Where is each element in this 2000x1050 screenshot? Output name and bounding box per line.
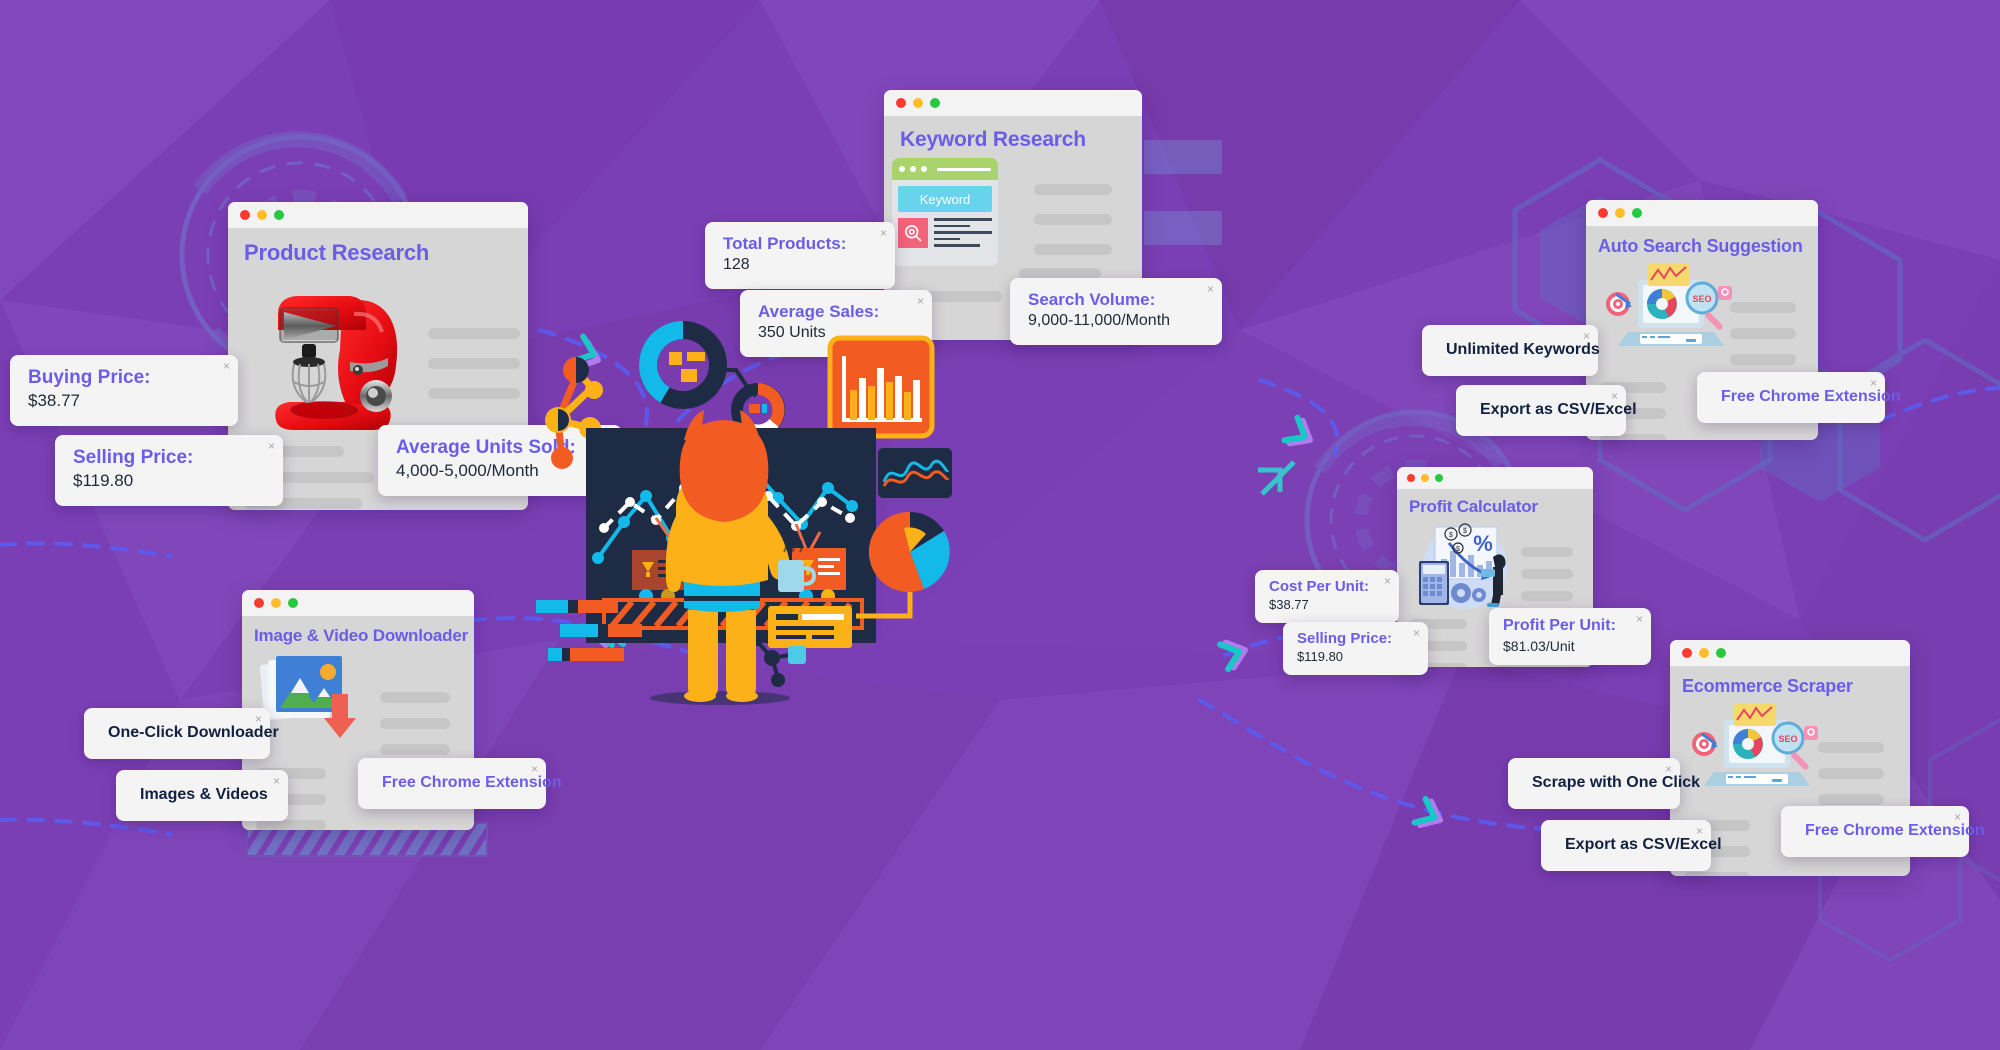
close-icon[interactable]: × bbox=[1954, 811, 1961, 823]
svg-text:$: $ bbox=[1456, 546, 1460, 553]
chip-one-click-downloader[interactable]: × One-Click Downloader bbox=[84, 708, 270, 759]
chip-title: Free Chrome Extension bbox=[1805, 822, 1935, 841]
chip-title: Selling Price: bbox=[1297, 630, 1402, 648]
chip-title: Scrape with One Click bbox=[1532, 774, 1646, 793]
chip-title: Total Products: bbox=[723, 234, 861, 254]
svg-text:$: $ bbox=[1449, 532, 1453, 539]
chip-title: Buying Price: bbox=[28, 367, 204, 389]
chip-cost-per-unit[interactable]: × Cost Per Unit: $38.77 bbox=[1255, 570, 1399, 623]
mini-text-lines bbox=[934, 218, 992, 248]
poster-canvas: Product Research bbox=[0, 0, 2000, 1050]
skeleton-line bbox=[380, 692, 450, 703]
chip-title: Export as CSV/Excel bbox=[1565, 836, 1677, 855]
close-dot-icon[interactable] bbox=[1407, 474, 1415, 482]
chip-title: Cost Per Unit: bbox=[1269, 578, 1373, 596]
close-icon[interactable]: × bbox=[273, 775, 280, 787]
skeleton-line bbox=[1034, 184, 1112, 195]
close-icon[interactable]: × bbox=[1611, 390, 1618, 402]
skeleton-line bbox=[1818, 794, 1884, 805]
close-icon[interactable]: × bbox=[1413, 627, 1420, 639]
bar-chart-card-icon bbox=[830, 338, 932, 436]
close-dot-icon[interactable] bbox=[896, 98, 906, 108]
donut-chart-cyan-icon bbox=[648, 330, 718, 400]
panel-title: Keyword Research bbox=[900, 128, 1126, 152]
chip-value: 128 bbox=[723, 255, 861, 276]
close-icon[interactable]: × bbox=[1696, 825, 1703, 837]
close-icon[interactable]: × bbox=[880, 227, 887, 239]
chip-selling-price-left[interactable]: × Selling Price: $119.80 bbox=[55, 435, 283, 506]
close-icon[interactable]: × bbox=[1665, 763, 1672, 775]
close-icon[interactable]: × bbox=[1583, 330, 1590, 342]
maximize-dot-icon[interactable] bbox=[1632, 208, 1642, 218]
mini-dot-icon bbox=[899, 166, 905, 172]
panel-title: Profit Calculator bbox=[1409, 497, 1581, 517]
maximize-dot-icon[interactable] bbox=[930, 98, 940, 108]
chip-export-csv-excel-bottom[interactable]: × Export as CSV/Excel bbox=[1541, 820, 1711, 871]
skeleton-line bbox=[1034, 244, 1112, 255]
close-icon[interactable]: × bbox=[531, 763, 538, 775]
close-dot-icon[interactable] bbox=[254, 598, 264, 608]
chip-value: 9,000-11,000/Month bbox=[1028, 311, 1188, 332]
chip-value: $81.03/Unit bbox=[1503, 637, 1625, 655]
close-dot-icon[interactable] bbox=[1598, 208, 1608, 218]
minimize-dot-icon[interactable] bbox=[257, 210, 267, 220]
keyword-search-card: Keyword bbox=[892, 158, 998, 266]
chip-search-volume[interactable]: × Search Volume: 9,000-11,000/Month bbox=[1010, 278, 1222, 345]
maximize-dot-icon[interactable] bbox=[1435, 474, 1443, 482]
skeleton-line bbox=[380, 718, 450, 729]
bg-accent-rect-2 bbox=[1144, 211, 1222, 245]
maximize-dot-icon[interactable] bbox=[288, 598, 298, 608]
chip-value: $38.77 bbox=[1269, 597, 1373, 614]
laptop-seo-analytics-icon: SEO bbox=[1692, 700, 1824, 804]
chip-free-chrome-extension-bottom[interactable]: × Free Chrome Extension bbox=[1781, 806, 1969, 857]
chip-title: Selling Price: bbox=[73, 447, 249, 469]
keyword-chip-label: Keyword bbox=[920, 192, 971, 207]
panel-title: Image & Video Downloader bbox=[254, 626, 462, 646]
chip-free-chrome-extension-left[interactable]: × Free Chrome Extension bbox=[358, 758, 546, 809]
skeleton-line bbox=[1034, 214, 1112, 225]
window-titlebar bbox=[242, 590, 474, 616]
chip-title: Unlimited Keywords bbox=[1446, 341, 1564, 360]
skeleton-line bbox=[428, 388, 520, 399]
chip-unlimited-keywords[interactable]: × Unlimited Keywords bbox=[1422, 325, 1598, 376]
minimize-dot-icon[interactable] bbox=[271, 598, 281, 608]
svg-text:SEO: SEO bbox=[1778, 734, 1797, 744]
skeleton-line bbox=[1521, 569, 1573, 579]
svg-text:SEO: SEO bbox=[1692, 294, 1711, 304]
chip-title: Free Chrome Extension bbox=[382, 774, 512, 793]
note-card-icon bbox=[768, 606, 852, 648]
close-icon[interactable]: × bbox=[268, 440, 275, 452]
skeleton-line bbox=[1684, 872, 1750, 876]
close-icon[interactable]: × bbox=[1207, 283, 1214, 295]
skeleton-line bbox=[1521, 547, 1573, 557]
skeleton-line bbox=[380, 744, 450, 755]
close-dot-icon[interactable] bbox=[240, 210, 250, 220]
mini-card-titlebar bbox=[892, 158, 998, 180]
skeleton-line bbox=[1521, 591, 1573, 601]
chip-value: $119.80 bbox=[73, 470, 249, 492]
pie-chart-icon bbox=[869, 512, 950, 592]
close-dot-icon[interactable] bbox=[1682, 648, 1692, 658]
close-icon[interactable]: × bbox=[1636, 613, 1643, 625]
svg-text:%: % bbox=[1473, 531, 1493, 556]
mini-dot-icon bbox=[910, 166, 916, 172]
panel-title: Auto Search Suggestion bbox=[1598, 236, 1806, 257]
skeleton-line bbox=[1818, 768, 1884, 779]
skeleton-line bbox=[428, 358, 520, 369]
bg-accent-rect-1 bbox=[1144, 140, 1222, 174]
keyword-chip: Keyword bbox=[898, 186, 992, 212]
panel-title: Ecommerce Scraper bbox=[1682, 676, 1898, 697]
hero-illustration bbox=[520, 310, 980, 710]
laptop-seo-analytics-icon: SEO bbox=[1606, 260, 1738, 364]
chip-title: Images & Videos bbox=[140, 786, 254, 805]
skeleton-line bbox=[1730, 302, 1796, 313]
chip-scrape-with-one-click[interactable]: × Scrape with One Click bbox=[1508, 758, 1680, 809]
minimize-dot-icon[interactable] bbox=[913, 98, 923, 108]
close-icon[interactable]: × bbox=[1384, 575, 1391, 587]
skeleton-line bbox=[1730, 354, 1796, 365]
chip-buying-price[interactable]: × Buying Price: $38.77 bbox=[10, 355, 238, 426]
calculator-percent-chart-icon: % $$$ bbox=[1411, 517, 1519, 615]
close-icon[interactable]: × bbox=[223, 360, 230, 372]
minimize-dot-icon[interactable] bbox=[1421, 474, 1429, 482]
window-titlebar bbox=[228, 202, 528, 228]
window-titlebar bbox=[1670, 640, 1910, 666]
search-target-icon bbox=[898, 218, 928, 248]
chip-value: $38.77 bbox=[28, 390, 204, 412]
chip-title: Profit Per Unit: bbox=[1503, 617, 1625, 636]
panel-title: Product Research bbox=[244, 240, 512, 266]
mini-dot-icon bbox=[921, 166, 927, 172]
chip-images-videos[interactable]: × Images & Videos bbox=[116, 770, 288, 821]
skeleton-line bbox=[1730, 328, 1796, 339]
chip-total-products[interactable]: × Total Products: 128 bbox=[705, 222, 895, 289]
chip-title: Export as CSV/Excel bbox=[1480, 401, 1592, 420]
skeleton-line bbox=[428, 328, 520, 339]
chip-selling-price-right[interactable]: × Selling Price: $119.80 bbox=[1283, 622, 1428, 675]
close-icon[interactable]: × bbox=[255, 713, 262, 725]
svg-text:$: $ bbox=[1463, 528, 1467, 535]
red-stand-mixer-icon bbox=[258, 270, 418, 440]
chip-export-csv-excel-right[interactable]: × Export as CSV/Excel bbox=[1456, 385, 1626, 436]
close-icon[interactable]: × bbox=[917, 295, 924, 307]
window-titlebar bbox=[1586, 200, 1818, 226]
wave-chart-card-icon bbox=[878, 448, 952, 498]
minimize-dot-icon[interactable] bbox=[1699, 648, 1709, 658]
minimize-dot-icon[interactable] bbox=[1615, 208, 1625, 218]
maximize-dot-icon[interactable] bbox=[274, 210, 284, 220]
chip-title: Free Chrome Extension bbox=[1721, 388, 1851, 407]
maximize-dot-icon[interactable] bbox=[1716, 648, 1726, 658]
mini-addressbar bbox=[937, 168, 991, 171]
window-titlebar bbox=[884, 90, 1142, 116]
close-icon[interactable]: × bbox=[1870, 377, 1877, 389]
chip-value: $119.80 bbox=[1297, 649, 1402, 666]
chip-title: Search Volume: bbox=[1028, 290, 1188, 310]
skeleton-line bbox=[256, 820, 326, 830]
chip-profit-per-unit[interactable]: × Profit Per Unit: $81.03/Unit bbox=[1489, 608, 1651, 665]
chip-free-chrome-extension-right[interactable]: × Free Chrome Extension bbox=[1697, 372, 1885, 423]
skeleton-line bbox=[1818, 742, 1884, 753]
window-titlebar bbox=[1397, 467, 1593, 489]
chip-title: One-Click Downloader bbox=[108, 724, 236, 743]
